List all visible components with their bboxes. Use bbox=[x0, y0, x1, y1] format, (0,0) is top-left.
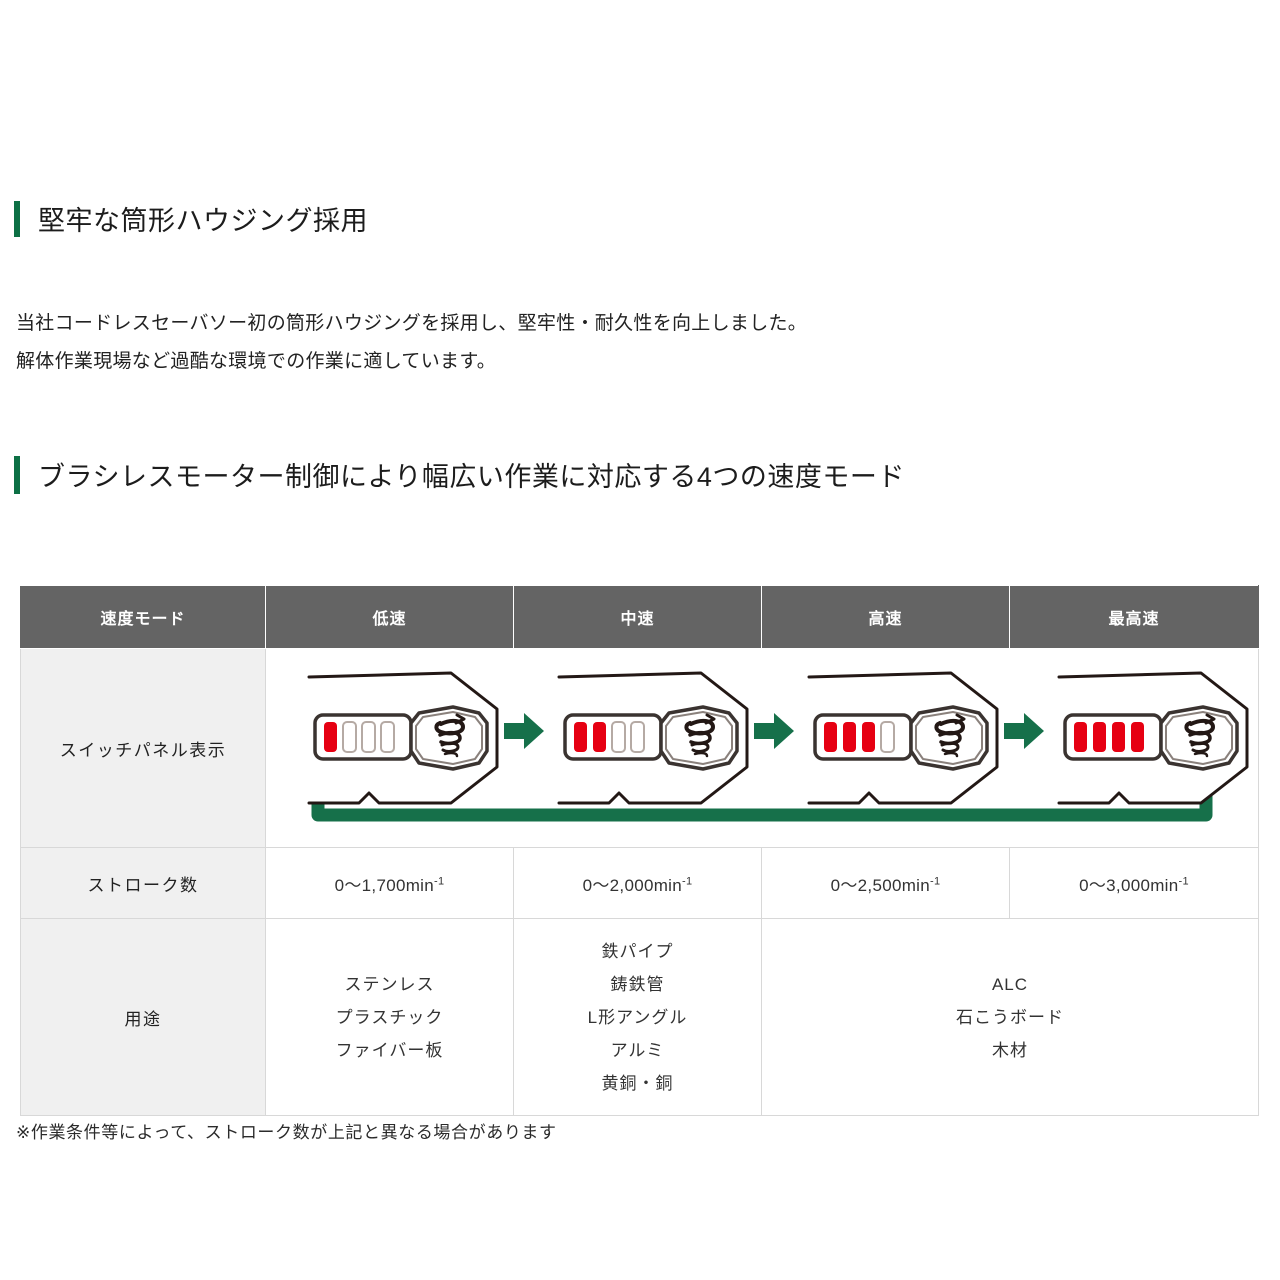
usage-item: ステンレス bbox=[266, 968, 513, 1001]
table-header-cell-medium: 中速 bbox=[514, 586, 762, 649]
table-row-switch-panel: スイッチパネル表示 bbox=[21, 649, 1259, 848]
table-header-cell-high: 高速 bbox=[762, 586, 1010, 649]
speed-mode-table: 速度モード 低速 中速 高速 最高速 スイッチパネル表示 bbox=[20, 585, 1259, 1116]
stroke-rate-exponent: -1 bbox=[930, 875, 940, 887]
section-heading-speed-modes: ブラシレスモーター制御により幅広い作業に対応する4つの速度モード bbox=[14, 455, 905, 494]
table-header-row: 速度モード 低速 中速 高速 最高速 bbox=[21, 586, 1259, 649]
housing-description-line-1: 当社コードレスセーバソー初の筒形ハウジングを採用し、堅牢性・耐久性を向上しました… bbox=[16, 305, 807, 343]
stroke-rate-high: 0〜2,500min-1 bbox=[762, 848, 1010, 919]
usage-item: 黄銅・銅 bbox=[514, 1067, 761, 1100]
usage-item: 鉄パイプ bbox=[514, 935, 761, 968]
table-row-usage: 用途 ステンレス プラスチック ファイバー板 鉄パイプ 鋳鉄管 L形アングル ア… bbox=[21, 919, 1259, 1116]
usage-item: ALC bbox=[762, 968, 1258, 1001]
stroke-rate-value: 0〜2,000min-1 bbox=[583, 876, 693, 895]
usage-list: 鉄パイプ 鋳鉄管 L形アングル アルミ 黄銅・銅 bbox=[514, 935, 761, 1100]
accent-bar-icon bbox=[14, 201, 20, 237]
stroke-rate-value: 0〜2,500min-1 bbox=[831, 876, 941, 895]
stroke-rate-exponent: -1 bbox=[434, 875, 444, 887]
table-footnote: ※作業条件等によって、ストローク数が上記と異なる場合があります bbox=[16, 1118, 557, 1143]
usage-list: ALC 石こうボード 木材 bbox=[762, 968, 1258, 1067]
usage-item: プラスチック bbox=[266, 1001, 513, 1034]
page-root: 堅牢な筒形ハウジング採用 当社コードレスセーバソー初の筒形ハウジングを採用し、堅… bbox=[0, 0, 1280, 1280]
usage-high-and-max: ALC 石こうボード 木材 bbox=[762, 919, 1259, 1116]
switch-panel-diagram bbox=[266, 649, 1259, 847]
stroke-rate-exponent: -1 bbox=[682, 875, 692, 887]
section-heading-text: ブラシレスモーター制御により幅広い作業に対応する4つの速度モード bbox=[38, 455, 905, 494]
section-heading-housing: 堅牢な筒形ハウジング採用 bbox=[14, 199, 368, 238]
table-body: スイッチパネル表示 bbox=[21, 649, 1259, 1116]
table-header-cell-max: 最高速 bbox=[1010, 586, 1259, 649]
stroke-rate-value: 0〜3,000min-1 bbox=[1079, 876, 1189, 895]
table-header-cell-mode: 速度モード bbox=[21, 586, 266, 649]
usage-low: ステンレス プラスチック ファイバー板 bbox=[266, 919, 514, 1116]
usage-item: 木材 bbox=[762, 1034, 1258, 1067]
accent-bar-icon bbox=[14, 456, 20, 494]
usage-list: ステンレス プラスチック ファイバー板 bbox=[266, 968, 513, 1067]
table-header-cell-low: 低速 bbox=[266, 586, 514, 649]
stroke-rate-medium: 0〜2,000min-1 bbox=[514, 848, 762, 919]
stroke-rate-exponent: -1 bbox=[1179, 875, 1189, 887]
usage-item: ファイバー板 bbox=[266, 1034, 513, 1067]
row-label-stroke-rate: ストローク数 bbox=[21, 848, 266, 919]
stroke-rate-low: 0〜1,700min-1 bbox=[266, 848, 514, 919]
table-header: 速度モード 低速 中速 高速 最高速 bbox=[21, 586, 1259, 649]
switch-panel-illustration-cell bbox=[266, 649, 1259, 848]
housing-description: 当社コードレスセーバソー初の筒形ハウジングを採用し、堅牢性・耐久性を向上しました… bbox=[16, 305, 807, 381]
row-label-usage: 用途 bbox=[21, 919, 266, 1116]
usage-item: 石こうボード bbox=[762, 1001, 1258, 1034]
stroke-rate-max: 0〜3,000min-1 bbox=[1010, 848, 1259, 919]
usage-item: 鋳鉄管 bbox=[514, 968, 761, 1001]
usage-medium: 鉄パイプ 鋳鉄管 L形アングル アルミ 黄銅・銅 bbox=[514, 919, 762, 1116]
usage-item: アルミ bbox=[514, 1034, 761, 1067]
housing-description-line-2: 解体作業現場など過酷な環境での作業に適しています。 bbox=[16, 343, 807, 381]
table-row-stroke-rate: ストローク数 0〜1,700min-1 0〜2,000min-1 0〜2,500… bbox=[21, 848, 1259, 919]
section-heading-text: 堅牢な筒形ハウジング採用 bbox=[38, 199, 368, 238]
stroke-rate-value: 0〜1,700min-1 bbox=[335, 876, 445, 895]
usage-item: L形アングル bbox=[514, 1001, 761, 1034]
row-label-switch-panel: スイッチパネル表示 bbox=[21, 649, 266, 848]
